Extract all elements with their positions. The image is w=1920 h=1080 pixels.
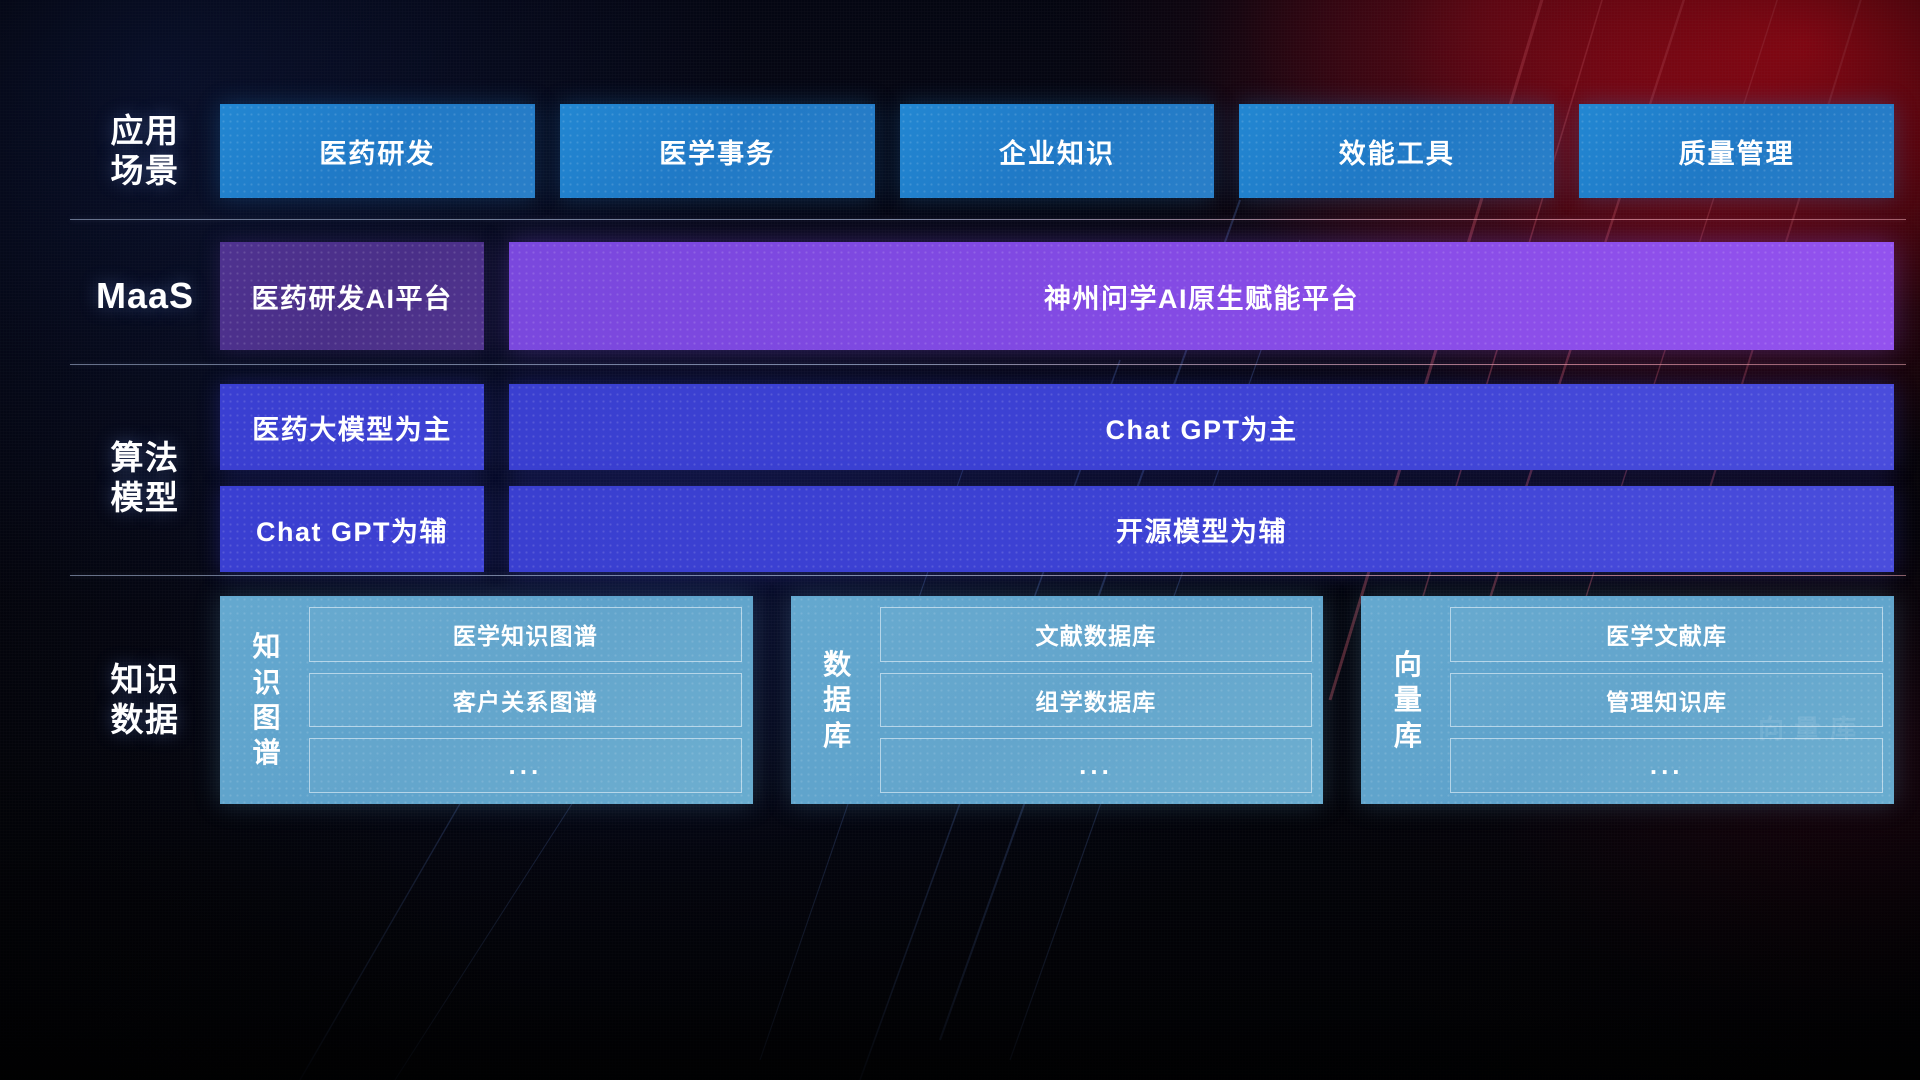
row-label-maas: MaaS <box>70 242 220 350</box>
app-box-label: 医学事务 <box>659 132 775 171</box>
row-body-applications: 医药研发 医学事务 企业知识 效能工具 质量管理 <box>220 104 1920 198</box>
title-char: 知 <box>252 629 281 664</box>
knowledge-panel-title-vector-store: 向 量 库 <box>1372 607 1444 793</box>
row-body-maas: 医药研发AI平台 神州问学AI原生赋能平台 <box>220 242 1920 350</box>
app-box-medical-rnd[interactable]: 医药研发 <box>220 104 535 198</box>
title-char: 量 <box>1394 682 1423 717</box>
row-label-line: MaaS <box>96 274 194 318</box>
maas-box-label: 医药研发AI平台 <box>252 277 453 316</box>
row-algorithm-model: 算法 模型 医药大模型为主 Chat GPT为主 Chat GPT为辅 <box>70 384 1920 572</box>
app-box-label: 质量管理 <box>1679 132 1795 171</box>
algo-box-chatgpt-secondary[interactable]: Chat GPT为辅 <box>220 486 484 572</box>
algo-box-chatgpt-primary[interactable]: Chat GPT为主 <box>509 384 1894 470</box>
title-char: 识 <box>252 665 281 700</box>
knowledge-panel-title-knowledge-graph: 知 识 图 谱 <box>231 607 303 793</box>
app-box-label: 企业知识 <box>999 132 1115 171</box>
knowledge-item-list: 文献数据库 组学数据库 ... <box>874 607 1313 793</box>
title-char: 库 <box>823 718 852 753</box>
divider-algorithm-knowledge <box>70 575 1906 576</box>
maas-box-pharma-ai-platform[interactable]: 医药研发AI平台 <box>220 242 484 350</box>
knowledge-item-more[interactable]: ... <box>309 738 742 793</box>
knowledge-panel-vector-store[interactable]: 向 量 库 医学文献库 管理知识库 ... 向量库 <box>1361 596 1894 804</box>
algo-box-label: Chat GPT为主 <box>1105 408 1297 447</box>
app-box-medical-affairs[interactable]: 医学事务 <box>560 104 875 198</box>
algo-box-label: 开源模型为辅 <box>1116 510 1287 549</box>
algo-box-label: Chat GPT为辅 <box>256 510 448 549</box>
title-char: 库 <box>1394 718 1423 753</box>
algorithm-line-secondary: Chat GPT为辅 开源模型为辅 <box>220 486 1920 572</box>
row-knowledge-data: 知识 数据 知 识 图 谱 医学知识图谱 客户关系图谱 ... <box>70 596 1920 804</box>
knowledge-item-list: 医学知识图谱 客户关系图谱 ... <box>303 607 742 793</box>
app-box-enterprise-knowledge[interactable]: 企业知识 <box>900 104 1215 198</box>
app-box-label: 医药研发 <box>319 132 435 171</box>
row-label-line: 场景 <box>111 151 180 191</box>
divider-applications-maas <box>70 219 1906 220</box>
maas-box-label: 神州问学AI原生赋能平台 <box>1044 277 1359 316</box>
knowledge-item-list: 医学文献库 管理知识库 ... <box>1444 607 1883 793</box>
row-label-knowledge-data: 知识 数据 <box>70 596 220 804</box>
divider-maas-algorithm <box>70 364 1906 365</box>
app-box-quality-management[interactable]: 质量管理 <box>1579 104 1894 198</box>
row-label-applications: 应用 场景 <box>70 104 220 198</box>
knowledge-item-management-knowledge-store[interactable]: 管理知识库 <box>1450 673 1883 728</box>
knowledge-item-more[interactable]: ... <box>1450 738 1883 793</box>
architecture-diagram: 应用 场景 医药研发 医学事务 企业知识 效能工具 质量管理 <box>0 0 1920 1080</box>
knowledge-item-more[interactable]: ... <box>880 738 1313 793</box>
row-body-knowledge-data: 知 识 图 谱 医学知识图谱 客户关系图谱 ... 数 据 库 <box>220 596 1920 804</box>
algo-box-label: 医药大模型为主 <box>252 408 452 447</box>
row-maas: MaaS 医药研发AI平台 神州问学AI原生赋能平台 <box>70 242 1920 350</box>
knowledge-item-literature-database[interactable]: 文献数据库 <box>880 607 1313 662</box>
algo-box-opensource-model-secondary[interactable]: 开源模型为辅 <box>509 486 1894 572</box>
knowledge-item-customer-relation-graph[interactable]: 客户关系图谱 <box>309 673 742 728</box>
algo-box-pharma-large-model-primary[interactable]: 医药大模型为主 <box>220 384 484 470</box>
row-body-algorithm-model: 医药大模型为主 Chat GPT为主 Chat GPT为辅 开源模型为辅 <box>220 384 1920 572</box>
title-char: 据 <box>823 682 852 717</box>
knowledge-item-medical-literature-store[interactable]: 医学文献库 <box>1450 607 1883 662</box>
row-label-line: 知识 <box>111 660 180 700</box>
row-label-line: 应用 <box>111 111 180 151</box>
knowledge-item-omics-database[interactable]: 组学数据库 <box>880 673 1313 728</box>
row-label-line: 数据 <box>111 700 180 740</box>
row-applications: 应用 场景 医药研发 医学事务 企业知识 效能工具 质量管理 <box>70 104 1920 198</box>
title-char: 数 <box>823 647 852 682</box>
title-char: 谱 <box>252 735 281 770</box>
knowledge-panel-title-database: 数 据 库 <box>802 607 874 793</box>
knowledge-item-medical-knowledge-graph[interactable]: 医学知识图谱 <box>309 607 742 662</box>
row-label-line: 模型 <box>111 478 180 518</box>
title-char: 图 <box>252 700 281 735</box>
row-label-line: 算法 <box>111 438 180 478</box>
row-label-algorithm-model: 算法 模型 <box>70 384 220 572</box>
app-box-efficiency-tools[interactable]: 效能工具 <box>1239 104 1554 198</box>
app-box-label: 效能工具 <box>1339 132 1455 171</box>
maas-box-shenzhou-wenxue-platform[interactable]: 神州问学AI原生赋能平台 <box>509 242 1894 350</box>
title-char: 向 <box>1394 647 1423 682</box>
knowledge-panel-database[interactable]: 数 据 库 文献数据库 组学数据库 ... <box>791 596 1324 804</box>
algorithm-line-primary: 医药大模型为主 Chat GPT为主 <box>220 384 1920 470</box>
knowledge-panel-knowledge-graph[interactable]: 知 识 图 谱 医学知识图谱 客户关系图谱 ... <box>220 596 753 804</box>
